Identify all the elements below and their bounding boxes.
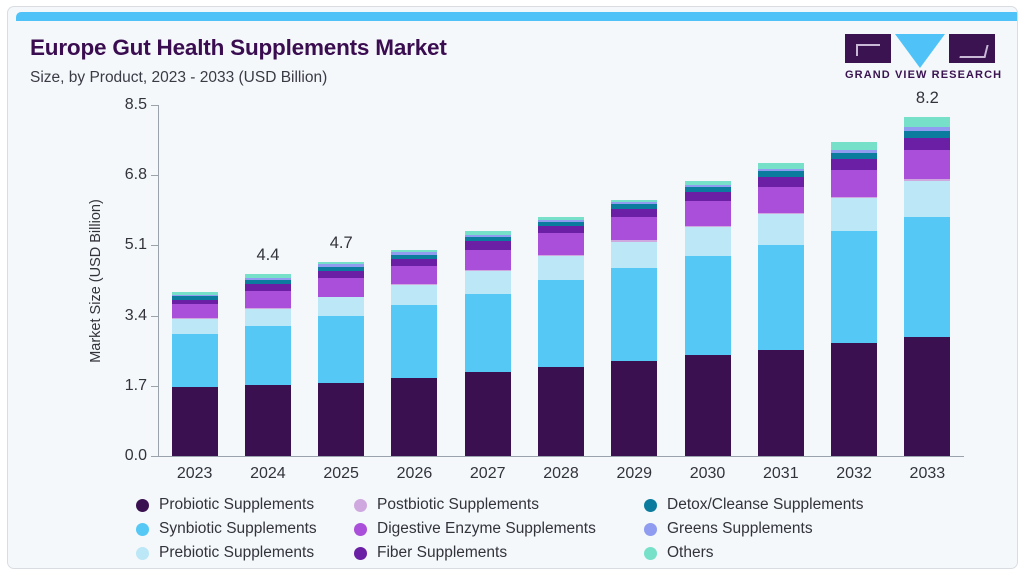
bar-segment[interactable]: [391, 378, 437, 456]
legend-label: Greens Supplements: [667, 520, 813, 538]
x-tick-label: 2031: [744, 465, 817, 483]
x-tick-label: 2024: [231, 465, 304, 483]
legend-item[interactable]: Postbiotic Supplements: [354, 496, 644, 514]
y-axis-line: [158, 105, 159, 456]
y-tick-label: 5.1: [125, 236, 147, 254]
bar-segment[interactable]: [391, 266, 437, 284]
bar-segment[interactable]: [611, 268, 657, 361]
bar-segment[interactable]: [831, 159, 877, 170]
y-axis-title: Market Size (USD Billion): [86, 105, 106, 456]
bar-segment[interactable]: [685, 192, 731, 201]
x-tick-label: 2023: [158, 465, 231, 483]
y-tick-label: 3.4: [125, 307, 147, 325]
legend-swatch-icon: [136, 523, 149, 536]
bar-segment[interactable]: [904, 117, 950, 126]
bar-stack[interactable]: [611, 200, 657, 456]
logo-v-mark: [895, 34, 945, 68]
bar-stack[interactable]: [758, 163, 804, 456]
bar-segment[interactable]: [758, 187, 804, 213]
legend-item[interactable]: Probiotic Supplements: [136, 496, 354, 514]
bar-segment[interactable]: [758, 350, 804, 456]
legend-label: Prebiotic Supplements: [159, 544, 314, 562]
bar-segment[interactable]: [465, 250, 511, 271]
legend-item[interactable]: Greens Supplements: [644, 520, 1006, 538]
bar-segment[interactable]: [758, 245, 804, 350]
bar-segment[interactable]: [685, 201, 731, 226]
bar-segment[interactable]: [245, 385, 291, 456]
x-tick-label: 2032: [817, 465, 890, 483]
y-tick-mark: [151, 456, 158, 457]
bar-segment[interactable]: [172, 319, 218, 335]
legend-label: Synbiotic Supplements: [159, 520, 317, 538]
page-subtitle: Size, by Product, 2023 - 2033 (USD Billi…: [30, 69, 327, 87]
bar-segment[interactable]: [245, 309, 291, 326]
bar-segment[interactable]: [831, 231, 877, 342]
bar-segment[interactable]: [538, 280, 584, 367]
bar-segment[interactable]: [538, 256, 584, 280]
bar-segment[interactable]: [904, 217, 950, 338]
legend-swatch-icon: [644, 499, 657, 512]
bar-segment[interactable]: [904, 337, 950, 456]
bar-segment[interactable]: [685, 355, 731, 456]
legend-label: Others: [667, 544, 714, 562]
bar-segment[interactable]: [685, 227, 731, 255]
legend-label: Detox/Cleanse Supplements: [667, 496, 863, 514]
bar-segment[interactable]: [611, 209, 657, 218]
bar-segment[interactable]: [318, 271, 364, 278]
legend-label: Postbiotic Supplements: [377, 496, 539, 514]
legend-item[interactable]: Others: [644, 544, 1006, 562]
bar-stack[interactable]: [831, 142, 877, 456]
legend-item[interactable]: Fiber Supplements: [354, 544, 644, 562]
bar-segment[interactable]: [465, 294, 511, 372]
y-tick-mark: [151, 105, 158, 106]
bar-stack[interactable]: [391, 250, 437, 456]
bar-segment[interactable]: [904, 181, 950, 217]
bar-segment[interactable]: [831, 343, 877, 456]
bar-segment[interactable]: [318, 297, 364, 316]
chart-infographic: Europe Gut Health Supplements Market Siz…: [0, 0, 1025, 576]
bar-segment[interactable]: [831, 198, 877, 231]
bar-segment[interactable]: [611, 242, 657, 268]
bar-total-label: 8.2: [916, 89, 939, 108]
bar-segment[interactable]: [831, 142, 877, 149]
legend-item[interactable]: Synbiotic Supplements: [136, 520, 354, 538]
x-tick-label: 2028: [524, 465, 597, 483]
bar-segment[interactable]: [172, 334, 218, 387]
legend-swatch-icon: [136, 547, 149, 560]
legend-item[interactable]: Detox/Cleanse Supplements: [644, 496, 1006, 514]
bar-segment[interactable]: [391, 305, 437, 379]
bar-segment[interactable]: [538, 367, 584, 456]
grand-view-research-logo: GRAND VIEW RESEARCH: [845, 34, 995, 82]
bar-stack[interactable]: [685, 181, 731, 456]
bar-stack[interactable]: [245, 274, 291, 456]
legend-label: Probiotic Supplements: [159, 496, 314, 514]
accent-top-bar: [16, 12, 1018, 21]
x-tick-label: 2025: [305, 465, 378, 483]
page-title: Europe Gut Health Supplements Market: [30, 35, 447, 61]
y-tick-mark: [151, 386, 158, 387]
logo-wordmark: GRAND VIEW RESEARCH: [845, 69, 995, 81]
y-tick-label: 1.7: [125, 377, 147, 395]
bar-segment[interactable]: [538, 233, 584, 254]
bar-stack[interactable]: [318, 262, 364, 456]
chart-card: Europe Gut Health Supplements Market Siz…: [7, 6, 1018, 569]
legend-item[interactable]: Prebiotic Supplements: [136, 544, 354, 562]
x-axis-line: [158, 456, 964, 457]
bar-total-label: 4.4: [256, 246, 279, 265]
bar-segment[interactable]: [245, 326, 291, 385]
bar-segment[interactable]: [831, 170, 877, 197]
y-tick-mark: [151, 175, 158, 176]
logo-g-mark: [845, 34, 891, 63]
bar-segment[interactable]: [611, 361, 657, 456]
bar-segment[interactable]: [465, 271, 511, 294]
bar-stack[interactable]: [904, 117, 950, 456]
x-tick-label: 2026: [378, 465, 451, 483]
bar-segment[interactable]: [391, 259, 437, 266]
x-tick-label: 2027: [451, 465, 524, 483]
bar-segment[interactable]: [904, 150, 950, 179]
legend-label: Digestive Enzyme Supplements: [377, 520, 596, 538]
y-axis-title-text: Market Size (USD Billion): [88, 199, 104, 363]
legend-label: Fiber Supplements: [377, 544, 507, 562]
x-tick-label: 2029: [598, 465, 671, 483]
y-tick-label: 0.0: [125, 447, 147, 465]
bar-segment[interactable]: [245, 284, 291, 291]
x-tick-label: 2033: [891, 465, 964, 483]
bar-segment[interactable]: [758, 177, 804, 187]
bar-total-label: 4.7: [330, 234, 353, 253]
bar-segment[interactable]: [904, 131, 950, 138]
plot-area: 0.01.73.45.16.88.5 4.44.78.2 20232024202…: [158, 105, 964, 456]
y-tick-mark: [151, 245, 158, 246]
bar-stack[interactable]: [172, 292, 218, 456]
bar-segment[interactable]: [318, 383, 364, 457]
bar-segment[interactable]: [391, 285, 437, 305]
bar-segment[interactable]: [611, 217, 657, 240]
bar-segment[interactable]: [904, 138, 950, 150]
bar-segment[interactable]: [172, 304, 218, 317]
bar-segment[interactable]: [685, 256, 731, 356]
bar-segment[interactable]: [465, 372, 511, 456]
legend-item[interactable]: Digestive Enzyme Supplements: [354, 520, 644, 538]
legend-swatch-icon: [644, 523, 657, 536]
y-tick-label: 6.8: [125, 166, 147, 184]
legend-swatch-icon: [136, 499, 149, 512]
logo-r-mark: [949, 34, 995, 63]
y-tick-label: 8.5: [125, 96, 147, 114]
bar-stack[interactable]: [465, 231, 511, 456]
y-tick-mark: [151, 316, 158, 317]
x-tick-label: 2030: [671, 465, 744, 483]
bar-segment[interactable]: [758, 214, 804, 245]
legend-swatch-icon: [354, 499, 367, 512]
bar-segment[interactable]: [465, 241, 511, 249]
legend-swatch-icon: [354, 523, 367, 536]
bar-segment[interactable]: [245, 291, 291, 308]
bar-segment[interactable]: [318, 316, 364, 382]
legend-swatch-icon: [644, 547, 657, 560]
bar-stack[interactable]: [538, 217, 584, 456]
bar-segment[interactable]: [538, 226, 584, 234]
legend-swatch-icon: [354, 547, 367, 560]
chart-legend: Probiotic SupplementsPostbiotic Suppleme…: [136, 493, 1006, 565]
bar-segment[interactable]: [318, 278, 364, 296]
bar-segment[interactable]: [172, 387, 218, 456]
